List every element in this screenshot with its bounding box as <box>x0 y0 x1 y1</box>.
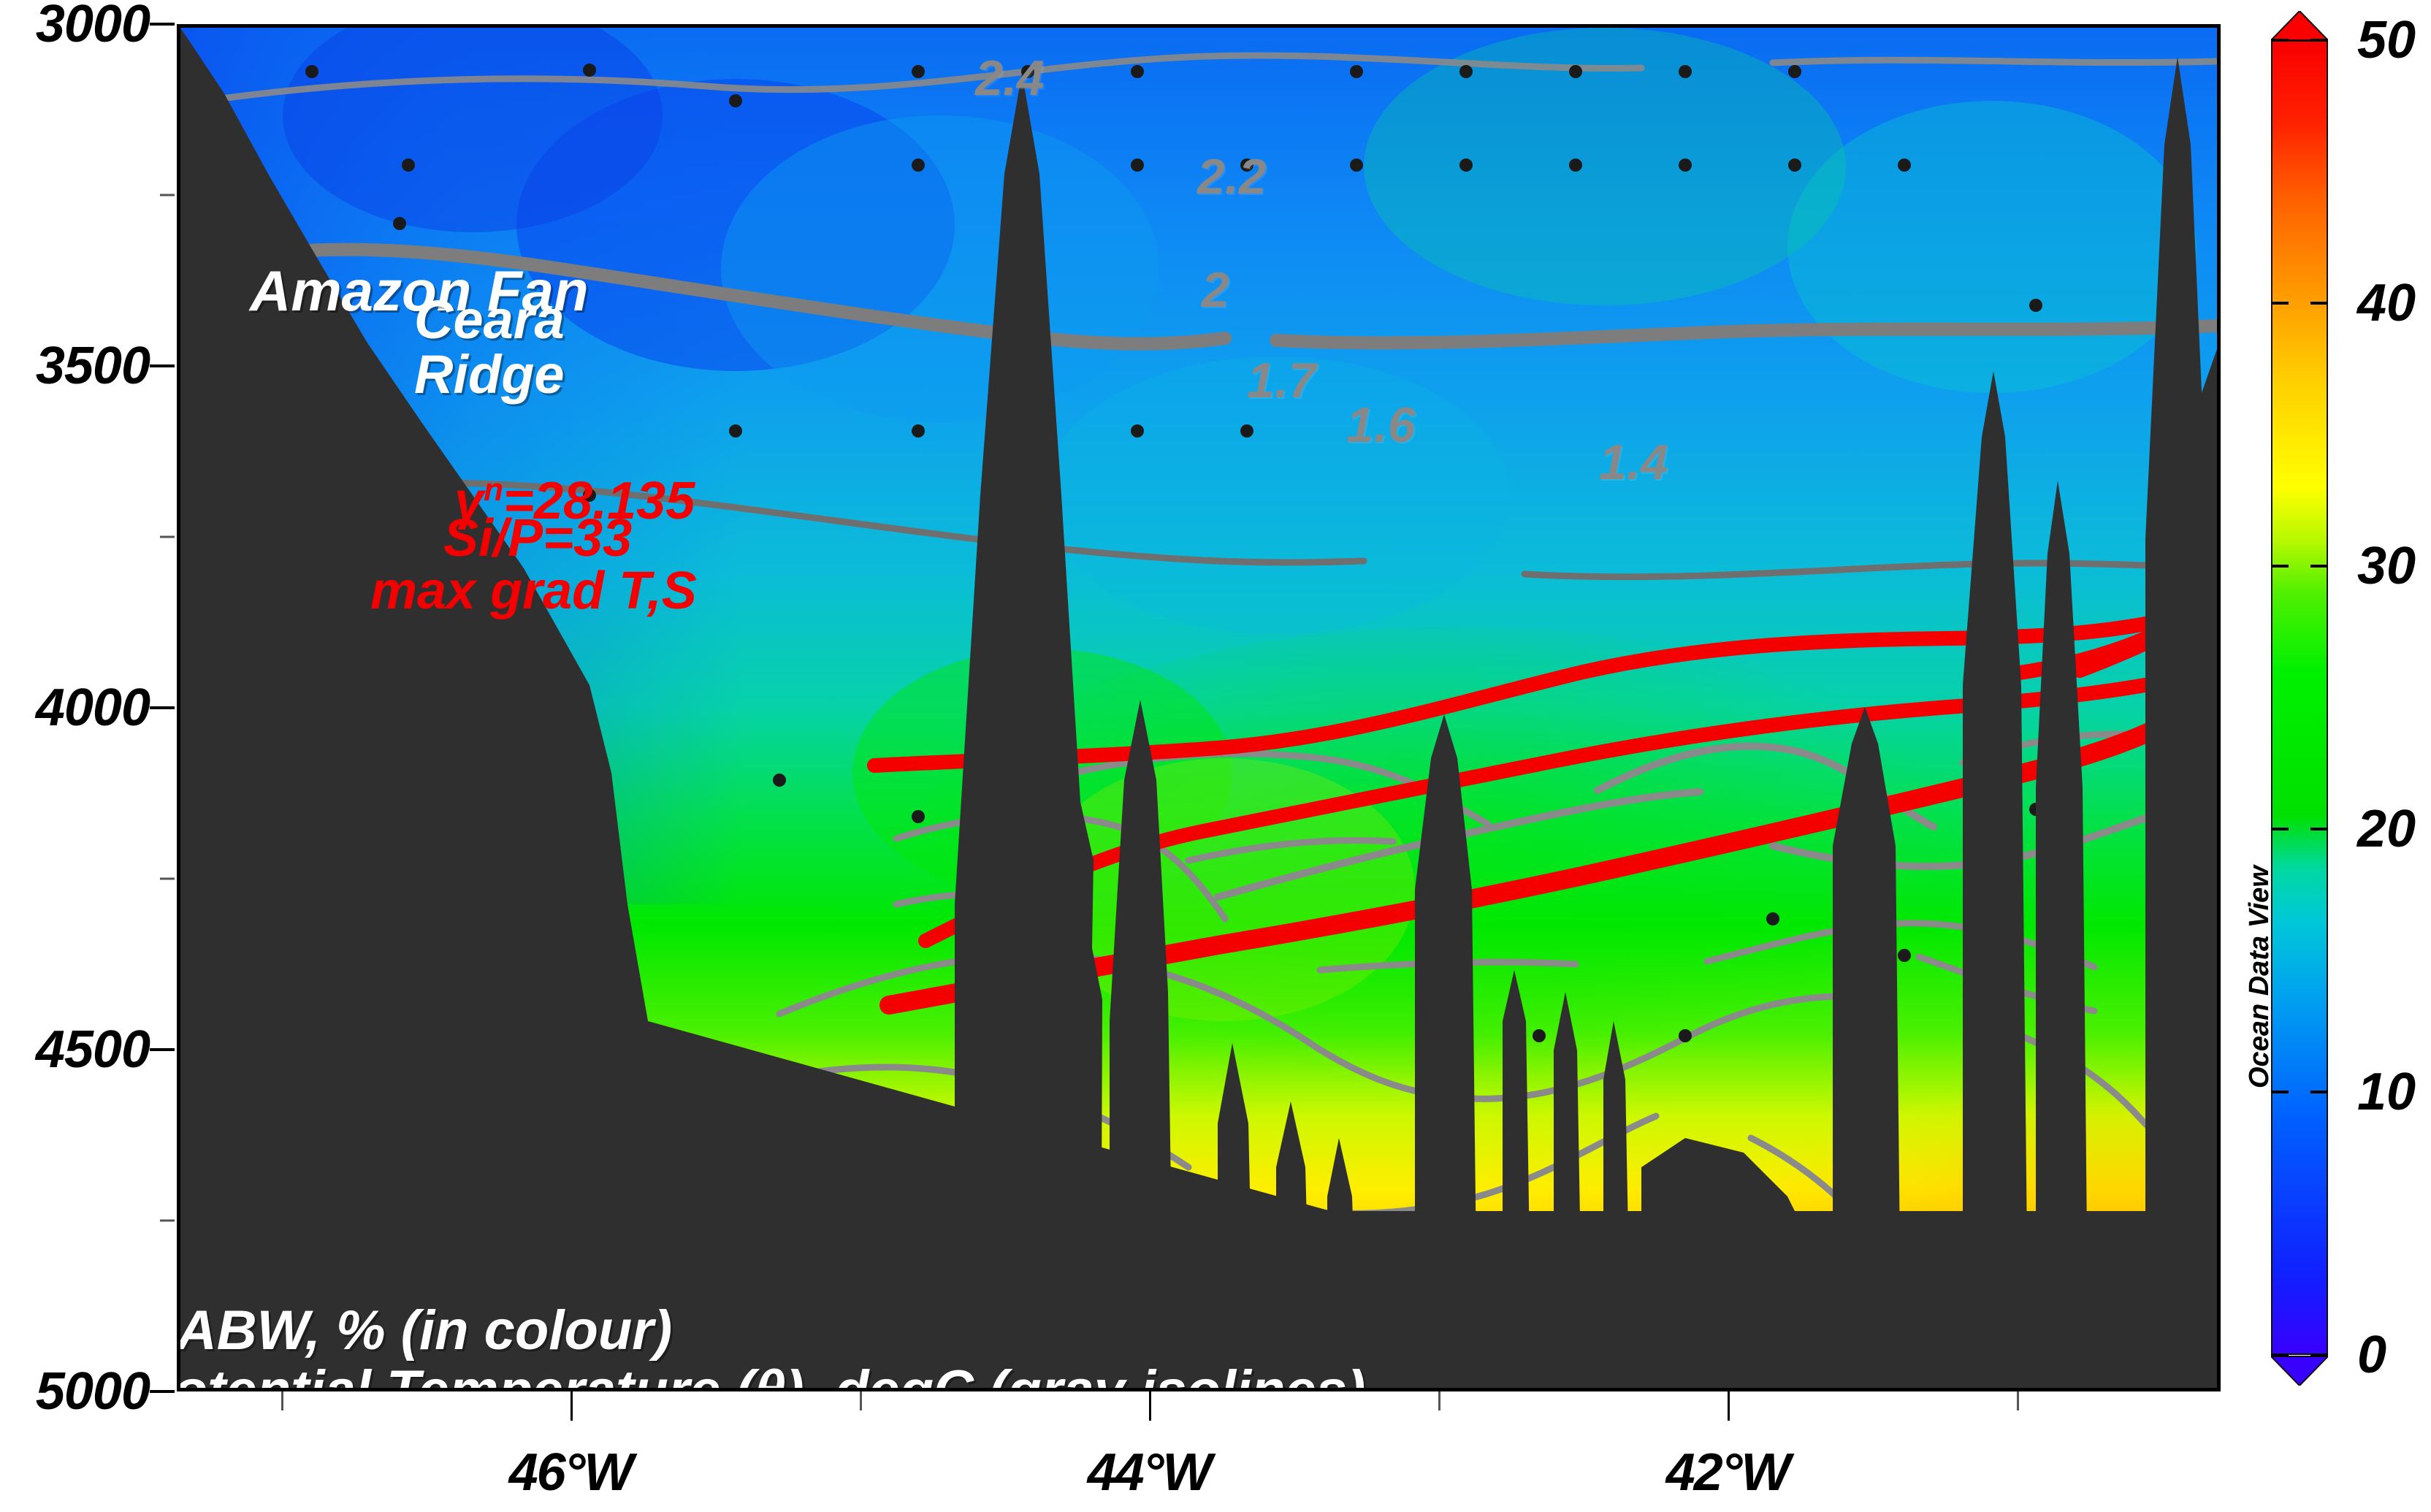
colorbar-tick <box>2271 1091 2289 1093</box>
y-tick-minor <box>160 536 175 538</box>
y-tick-label: 4000 <box>36 678 150 738</box>
figure-root: 3000 3500 4000 4500 5000 46°W 44°W 42°W <box>0 0 2431 1512</box>
colorbar-tick <box>2271 1353 2289 1356</box>
colorbar-tick <box>2310 565 2328 568</box>
x-tick-44w: 44°W <box>1088 1443 1211 1503</box>
x-tick-minor <box>1438 1391 1440 1410</box>
colorbar-label-30: 30 <box>2357 536 2416 596</box>
y-tick-minor <box>160 878 175 880</box>
x-tickmark <box>570 1391 573 1421</box>
x-tickmark <box>1728 1391 1730 1421</box>
y-tickmark <box>150 364 175 367</box>
y-tick-minor <box>160 194 175 196</box>
x-tick-42w: 42°W <box>1666 1443 1790 1503</box>
y-tick-label: 3500 <box>36 336 150 396</box>
odv-branding: Ocean Data View <box>2244 825 2275 1088</box>
colorbar-label-10: 10 <box>2357 1062 2416 1122</box>
x-tickmark <box>1149 1391 1151 1421</box>
colorbar-gradient <box>2271 40 2328 1355</box>
colorbar-label-40: 40 <box>2357 273 2416 333</box>
colorbar-tick <box>2310 302 2328 305</box>
y-tick-label: 3000 <box>36 0 150 54</box>
section-plot-panel[interactable]: Amazon Fan Ceara Ridge γn=28.135 Si/P=33… <box>177 24 2221 1391</box>
section-canvas <box>180 28 2217 1388</box>
x-tick-minor <box>281 1391 283 1410</box>
y-tick-label: 4500 <box>36 1020 150 1080</box>
y-tickmark <box>150 23 175 26</box>
y-tickmark <box>150 706 175 709</box>
x-tick-46w: 46°W <box>509 1443 633 1503</box>
colorbar-label-50: 50 <box>2357 10 2416 70</box>
colorbar-tick <box>2310 39 2328 42</box>
colorbar-tick <box>2310 1353 2328 1356</box>
colorbar-tick <box>2271 39 2289 42</box>
y-tickmark <box>150 1048 175 1051</box>
colorbar-tick <box>2271 302 2289 305</box>
x-tick-minor <box>860 1391 862 1410</box>
x-tick-minor <box>2017 1391 2019 1410</box>
y-tickmark <box>150 1390 175 1393</box>
y-tick-minor <box>160 1220 175 1222</box>
colorbar-tick <box>2271 565 2289 568</box>
colorbar[interactable]: 50 40 30 20 10 0 <box>2271 40 2328 1355</box>
colorbar-label-0: 0 <box>2357 1325 2386 1385</box>
y-tick-label: 5000 <box>36 1362 150 1421</box>
colorbar-tick <box>2310 1091 2328 1093</box>
colorbar-tick <box>2310 828 2328 831</box>
colorbar-min-arrow <box>2271 1353 2328 1386</box>
colorbar-label-20: 20 <box>2357 799 2416 859</box>
